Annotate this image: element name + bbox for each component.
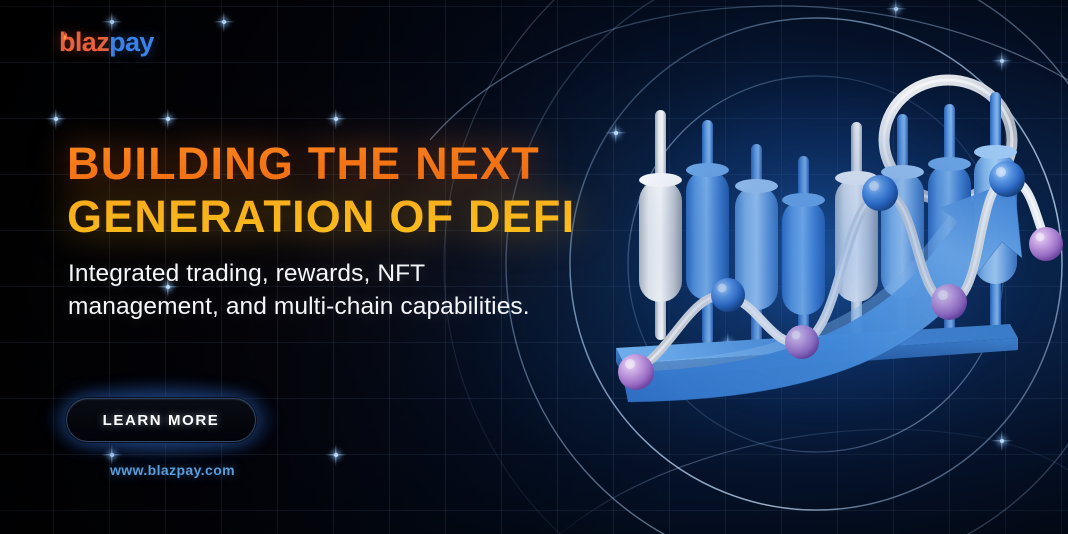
brand-logo[interactable]: blazpay (59, 28, 154, 56)
learn-more-button[interactable]: LEARN MORE (66, 398, 256, 442)
headline-line-2: GENERATION OF DEFI (67, 191, 575, 244)
illustration-glow (632, 92, 1032, 412)
website-url[interactable]: www.blazpay.com (110, 462, 235, 478)
subtitle-text: Integrated trading, rewards, NFT managem… (68, 258, 538, 323)
headline-line-1: BUILDING THE NEXT (67, 138, 575, 191)
cta-container: LEARN MORE (66, 398, 256, 442)
page-title: BUILDING THE NEXT GENERATION OF DEFI (67, 138, 575, 243)
chart-illustration (602, 52, 1068, 452)
flame-icon (59, 28, 69, 56)
data-point-marker (1029, 227, 1063, 261)
logo-text-pay: pay (109, 29, 154, 56)
promo-banner: blazpay BUILDING THE NEXT GENERATION OF … (0, 0, 1068, 534)
hero-content: blazpay BUILDING THE NEXT GENERATION OF … (68, 0, 668, 534)
